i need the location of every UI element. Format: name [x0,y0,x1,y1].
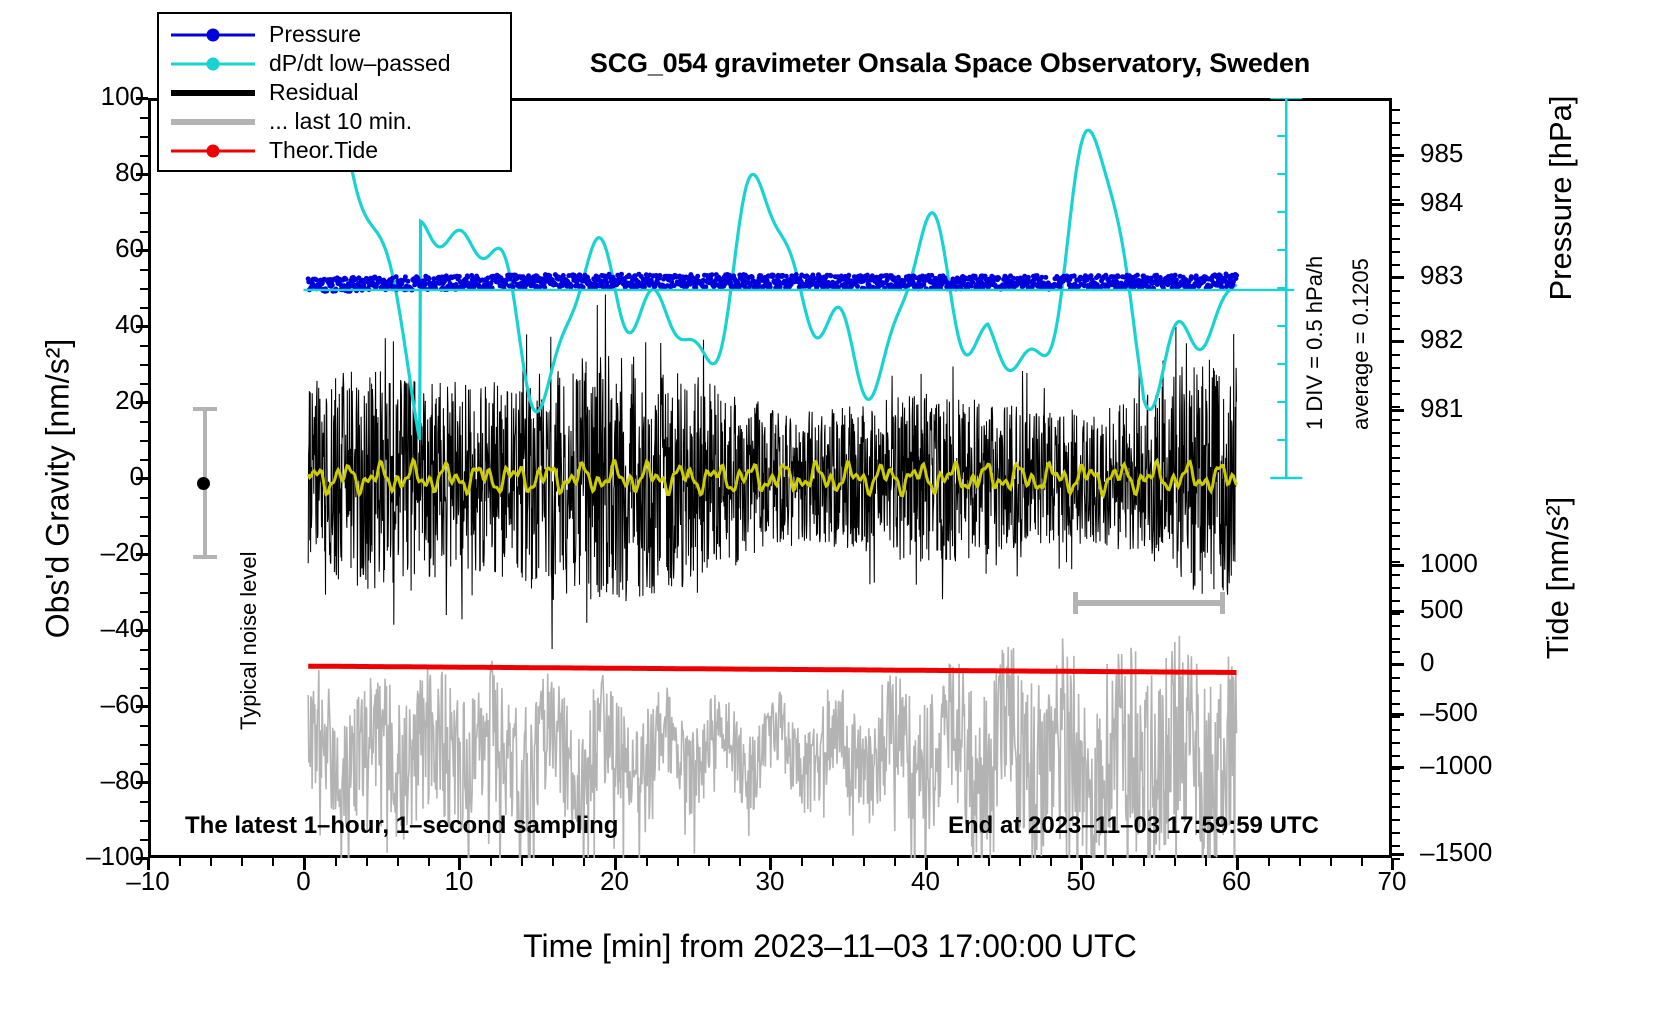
pressure-point [996,276,1001,281]
y-minor-tick-right [1392,160,1400,162]
y-tick-label-tide-mark [1392,853,1404,856]
y-tick-label-tide: –500 [1420,697,1478,728]
y-tick-label-pressure: 985 [1420,138,1463,169]
y-minor-tick-left [140,668,148,670]
y-minor-tick-left [140,307,148,309]
y-minor-tick-left [140,497,148,499]
x-minor-tick [1112,858,1114,866]
x-minor-tick [646,858,648,866]
y-minor-tick-left [140,611,148,613]
typical-noise-level-label: Typical noise level [236,551,262,730]
y-minor-tick-left [140,516,148,518]
y-minor-tick-right [1392,134,1400,136]
y-tick-label-pressure: 982 [1420,324,1463,355]
y-tick-label-tide-mark [1392,564,1404,567]
y-minor-tick-left [140,839,148,841]
y-minor-tick-left [140,288,148,290]
x-tick-label: 70 [1352,866,1432,897]
y-minor-tick-right [1392,264,1400,266]
noise-bar-cap-top [193,407,217,411]
x-minor-tick [210,858,212,866]
y-tick-label-tide: 1000 [1420,548,1478,579]
y-minor-tick-right [1392,793,1400,795]
y-minor-tick-right [1392,587,1400,589]
y-minor-tick-right [1392,535,1400,537]
y-minor-tick-right [1392,328,1400,330]
y-minor-tick-right [1392,768,1400,770]
x-minor-tick [428,858,430,866]
y-minor-tick-right [1392,690,1400,692]
x-tick-label: 0 [264,866,344,897]
y-minor-tick-left [140,573,148,575]
legend-swatch-last-10-min [167,112,259,132]
y-tick-label-left: –40 [101,613,144,644]
y-minor-tick-left [140,193,148,195]
x-minor-tick [1143,858,1145,866]
y-minor-tick-left [140,345,148,347]
y-tick-label-left: 40 [115,309,144,340]
y-minor-tick-right [1392,380,1400,382]
legend-label-last-10-min: ... last 10 min. [259,110,412,133]
x-axis-title: Time [min] from 2023–11–03 17:00:00 UTC [330,928,1330,965]
y-minor-tick-left [140,744,148,746]
y-minor-tick-right [1392,470,1400,472]
scale-bar-endcap-left [1073,592,1078,614]
legend-swatch-dpdt [167,54,259,74]
y-tick-label-left: –20 [101,537,144,568]
pressure-point [511,284,516,289]
y-minor-tick-right [1392,509,1400,511]
y-tick-label-pressure-mark [1392,203,1404,206]
legend-swatch-residual [167,83,259,103]
y-minor-tick-left [140,421,148,423]
y-minor-tick-left [140,117,148,119]
x-minor-tick [490,858,492,866]
x-minor-tick [179,858,181,866]
y-minor-tick-left [140,155,148,157]
y-minor-tick-left [140,136,148,138]
pressure-point [426,276,431,281]
y-minor-tick-right [1392,225,1400,227]
noise-bar-center-dot [197,477,210,490]
y-tick-label-pressure: 981 [1420,393,1463,424]
x-minor-tick [988,858,990,866]
pressure-point [1135,273,1140,278]
pressure-point [457,274,462,279]
y-tick-label-pressure: 984 [1420,187,1463,218]
x-minor-tick [1205,858,1207,866]
legend[interactable]: Pressure dP/dt low–passed Residual ... l… [157,12,512,172]
y-minor-tick-left [140,725,148,727]
pressure-point [569,283,574,288]
x-minor-tick [241,858,243,866]
x-minor-tick [1174,858,1176,866]
y-minor-tick-right [1392,199,1400,201]
y-minor-tick-right [1392,251,1400,253]
pressure-point [619,272,624,277]
y-minor-tick-left [140,535,148,537]
y-minor-tick-right [1392,819,1400,821]
legend-item-theor-tide[interactable]: Theor.Tide [167,136,502,165]
x-minor-tick [583,858,585,866]
legend-item-pressure[interactable]: Pressure [167,20,502,49]
y-tick-label-left: 80 [115,157,144,188]
last-10-min-scale-bar [1073,600,1225,606]
y-tick-label-left: –60 [101,689,144,720]
y-minor-tick-right [1392,290,1400,292]
typical-noise-level-marker [193,407,215,559]
end-time-note: End at 2023–11–03 17:59:59 UTC [948,812,1319,840]
pressure-point [771,273,776,278]
pressure-point [855,284,860,289]
x-tick-label: 30 [730,866,810,897]
pressure-point [657,273,662,278]
x-minor-tick [366,858,368,866]
x-tick-label: 40 [886,866,966,897]
y-minor-tick-right [1392,548,1400,550]
y-minor-tick-right [1392,406,1400,408]
y-minor-tick-right [1392,496,1400,498]
pressure-point [1234,273,1239,278]
plot-data-canvas [148,98,1392,858]
x-minor-tick [1330,858,1332,866]
y-minor-tick-right [1392,574,1400,576]
legend-swatch-theor-tide [167,141,259,161]
y-tick-label-left: 20 [115,385,144,416]
pressure-point [330,283,335,288]
legend-item-dpdt[interactable]: dP/dt low–passed [167,49,502,78]
x-minor-tick [1361,858,1363,866]
y-minor-tick-left [140,364,148,366]
y-minor-tick-right [1392,806,1400,808]
y-minor-tick-left [140,459,148,461]
pressure-point [703,284,708,289]
y-tick-label-left: 60 [115,233,144,264]
pressure-point [1158,275,1163,280]
x-minor-tick [677,858,679,866]
x-minor-tick [708,858,710,866]
y-minor-tick-right [1392,147,1400,149]
legend-label-pressure: Pressure [259,23,361,46]
y-minor-tick-right [1392,780,1400,782]
page-title: SCG_054 gravimeter Onsala Space Observat… [520,48,1380,79]
x-minor-tick [1268,858,1270,866]
y-minor-tick-right [1392,483,1400,485]
series-theoretical-tide [308,666,1236,672]
y-minor-tick-right [1392,522,1400,524]
y-minor-tick-right [1392,109,1400,111]
legend-label-theor-tide: Theor.Tide [259,139,378,162]
x-minor-tick [1299,858,1301,866]
y-tick-label-pressure-mark [1392,409,1404,412]
x-minor-tick [552,858,554,866]
scale-bar-endcap-right [1220,592,1225,614]
y-tick-label-tide: 0 [1420,647,1434,678]
x-minor-tick [957,858,959,866]
y-axis-right-tide-title: Tide [nm/s²] [1540,428,1576,728]
x-minor-tick [521,858,523,866]
y-tick-label-pressure-mark [1392,154,1404,157]
y-minor-tick-right [1392,716,1400,718]
y-tick-label-tide: 500 [1420,594,1463,625]
pressure-point [828,273,833,278]
y-tick-label-tide: –1500 [1420,837,1492,868]
y-minor-tick-left [140,231,148,233]
x-minor-tick [863,858,865,866]
legend-swatch-pressure [167,25,259,45]
x-tick-label: 60 [1197,866,1277,897]
y-tick-label-left: 100 [101,81,144,112]
y-minor-tick-left [140,383,148,385]
pressure-point [846,273,851,278]
y-minor-tick-right [1392,315,1400,317]
y-minor-tick-right [1392,393,1400,395]
pressure-point [403,274,408,279]
x-minor-tick [801,858,803,866]
y-minor-tick-right [1392,832,1400,834]
y-minor-tick-left [140,801,148,803]
y-minor-tick-right [1392,755,1400,757]
pressure-point [405,279,410,284]
y-minor-tick-right [1392,354,1400,356]
x-minor-tick [335,858,337,866]
sampling-note: The latest 1–hour, 1–second sampling [185,812,618,840]
x-minor-tick [832,858,834,866]
y-minor-tick-right [1392,186,1400,188]
y-minor-tick-right [1392,703,1400,705]
x-minor-tick [1019,858,1021,866]
pressure-point [1173,273,1178,278]
x-tick-label: 20 [575,866,655,897]
x-minor-tick [1050,858,1052,866]
legend-label-dpdt: dP/dt low–passed [259,52,451,75]
y-minor-tick-left [140,649,148,651]
y-minor-tick-left [140,592,148,594]
pressure-point [1116,274,1121,279]
y-minor-tick-left [140,440,148,442]
y-minor-tick-right [1392,367,1400,369]
y-minor-tick-left [140,763,148,765]
y-minor-tick-right [1392,445,1400,447]
x-minor-tick [397,858,399,866]
pressure-point [1026,275,1031,280]
x-tick-label: –10 [108,866,188,897]
pressure-point [423,282,428,287]
x-tick-label: 10 [419,866,499,897]
y-tick-label-left: –80 [101,765,144,796]
y-minor-tick-left [140,269,148,271]
y-minor-tick-left [140,820,148,822]
y-minor-tick-right [1392,600,1400,602]
pressure-point [695,274,700,279]
y-axis-left-title: Obs'd Gravity [nm/s²] [40,279,77,699]
y-minor-tick-right [1392,742,1400,744]
y-minor-tick-right [1392,173,1400,175]
gravimeter-plot-page: SCG_054 gravimeter Onsala Space Observat… [0,0,1660,1020]
pressure-point [778,284,783,289]
y-axis-right-pressure-title: Pressure [hPa] [1543,33,1579,363]
y-minor-tick-right [1392,677,1400,679]
x-minor-tick [272,858,274,866]
y-minor-tick-right [1392,651,1400,653]
dpdt-average-label: average = 0.1205 [1348,258,1374,430]
y-minor-tick-right [1392,122,1400,124]
y-minor-tick-left [140,687,148,689]
y-minor-tick-right [1392,238,1400,240]
y-minor-tick-right [1392,277,1400,279]
y-minor-tick-right [1392,341,1400,343]
pressure-point [710,272,715,277]
y-tick-label-left: 0 [130,461,144,492]
y-minor-tick-right [1392,432,1400,434]
legend-item-residual[interactable]: Residual [167,78,502,107]
y-tick-label-tide: –1000 [1420,750,1492,781]
y-minor-tick-right [1392,664,1400,666]
pressure-point [794,272,799,277]
x-minor-tick [739,858,741,866]
pressure-point [1043,275,1048,280]
x-minor-tick [894,858,896,866]
y-minor-tick-left [140,212,148,214]
legend-item-last-10-min[interactable]: ... last 10 min. [167,107,502,136]
y-tick-label-pressure: 983 [1420,260,1463,291]
y-minor-tick-right [1392,561,1400,563]
y-minor-tick-right [1392,457,1400,459]
y-minor-tick-right [1392,625,1400,627]
y-minor-tick-right [1392,212,1400,214]
y-minor-tick-right [1392,845,1400,847]
y-minor-tick-right [1392,858,1400,860]
pressure-point [343,277,348,282]
y-minor-tick-right [1392,613,1400,615]
y-minor-tick-right [1392,419,1400,421]
noise-bar-cap-bottom [193,555,217,559]
y-minor-tick-right [1392,638,1400,640]
x-tick-label: 50 [1041,866,1121,897]
legend-label-residual: Residual [259,81,359,104]
y-minor-tick-right [1392,729,1400,731]
dpdt-div-scale-label: 1 DIV = 0.5 hPa/h [1302,256,1328,430]
y-minor-tick-right [1392,302,1400,304]
